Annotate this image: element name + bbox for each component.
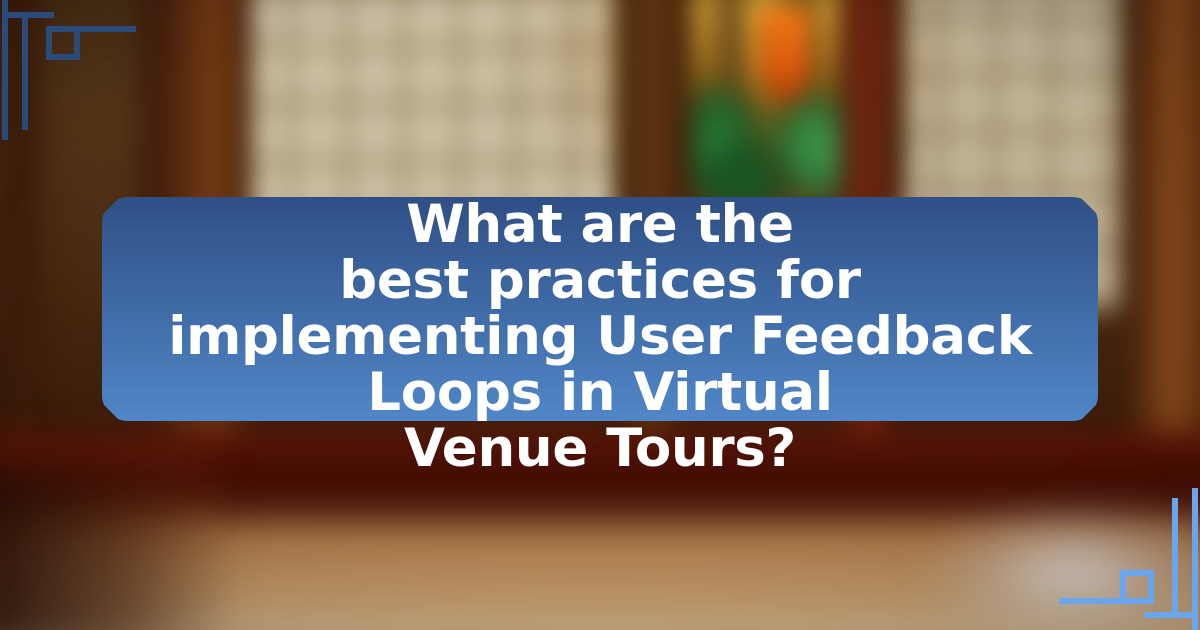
orange-banner-accent: [760, 6, 810, 102]
page-title: What are the best practices for implemen…: [102, 197, 1098, 477]
question-card: What are the best practices for implemen…: [0, 0, 1200, 630]
floor-reflection: [910, 500, 1200, 630]
floor-shadow-left: [0, 470, 240, 630]
